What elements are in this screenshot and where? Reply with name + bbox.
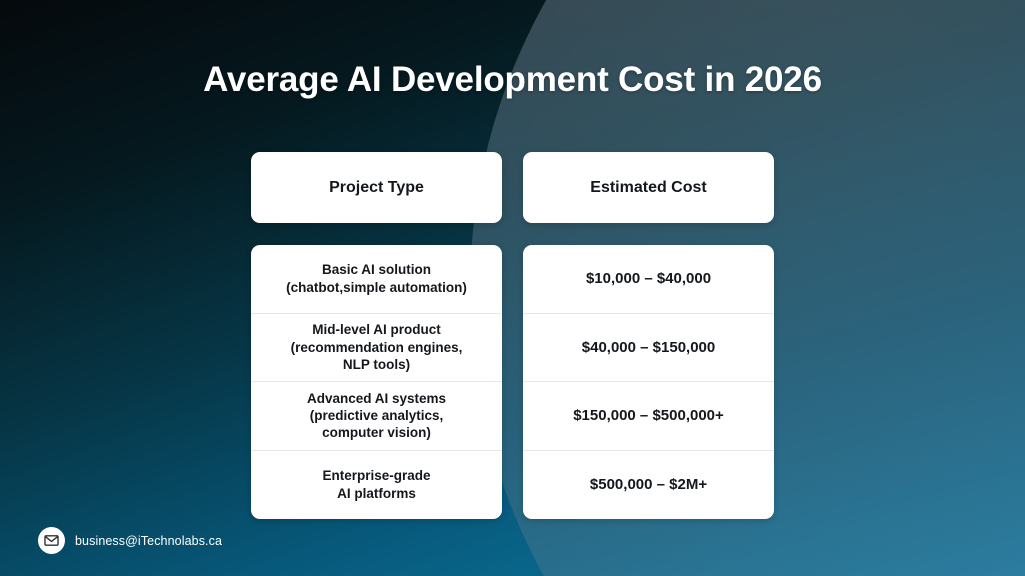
table-row: $500,000 – $2M+ bbox=[523, 451, 774, 520]
table-row: $40,000 – $150,000 bbox=[523, 314, 774, 383]
table-row: Mid-level AI product(recommendation engi… bbox=[251, 314, 502, 383]
page-title: Average AI Development Cost in 2026 bbox=[0, 60, 1025, 100]
table-row: Advanced AI systems(predictive analytics… bbox=[251, 382, 502, 451]
table-row: Basic AI solution(chatbot,simple automat… bbox=[251, 245, 502, 314]
slide-canvas: Average AI Development Cost in 2026 Proj… bbox=[0, 0, 1025, 576]
cost-table: Project Type Estimated Cost Basic AI sol… bbox=[251, 152, 774, 519]
column-header-project-type: Project Type bbox=[251, 152, 502, 223]
table-row: $150,000 – $500,000+ bbox=[523, 382, 774, 451]
project-type-column: Basic AI solution(chatbot,simple automat… bbox=[251, 245, 502, 519]
column-header-estimated-cost: Estimated Cost bbox=[523, 152, 774, 223]
table-header-row: Project Type Estimated Cost bbox=[251, 152, 774, 223]
estimated-cost-column: $10,000 – $40,000 $40,000 – $150,000 $15… bbox=[523, 245, 774, 519]
table-row: Enterprise-gradeAI platforms bbox=[251, 451, 502, 520]
footer-contact[interactable]: business@iTechnolabs.ca bbox=[38, 527, 222, 554]
table-body: Basic AI solution(chatbot,simple automat… bbox=[251, 245, 774, 519]
envelope-icon bbox=[38, 527, 65, 554]
table-row: $10,000 – $40,000 bbox=[523, 245, 774, 314]
footer-email-text: business@iTechnolabs.ca bbox=[75, 534, 222, 548]
